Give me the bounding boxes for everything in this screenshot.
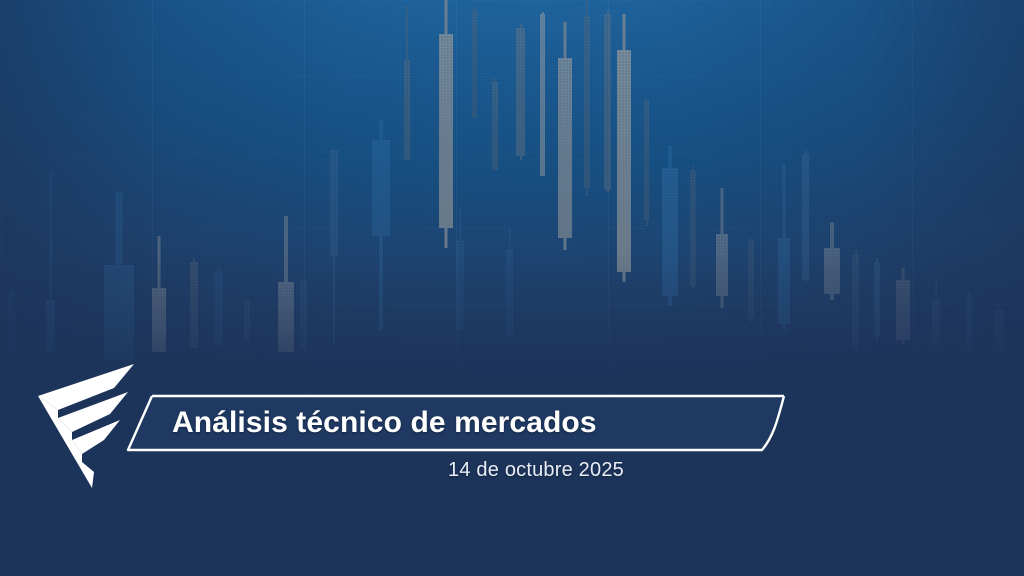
background-vignette [0, 0, 1024, 576]
slide-date: 14 de octubre 2025 [0, 459, 1024, 482]
page-title: Análisis técnico de mercados [172, 394, 597, 452]
presentation-slide: Análisis técnico de mercados 14 de octub… [0, 0, 1024, 576]
title-ribbon: Análisis técnico de mercados [126, 394, 786, 452]
